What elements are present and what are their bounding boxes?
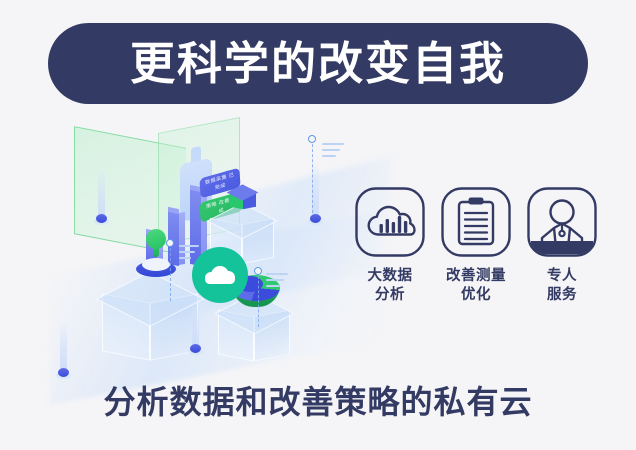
feature-label-measurement-optimization: 改善测量 优化 [446,267,506,305]
glass-pedestal-center [102,271,198,367]
detail-dashes-1 [322,143,344,161]
clipboard-icon [440,186,512,258]
detail-dashes-3 [266,273,288,291]
service-person-icon [526,186,598,258]
feature-label-dedicated-service: 专人 服务 [547,267,577,305]
page-title: 更科学的改变自我 [130,41,506,86]
title-banner: 更科学的改变自我 [48,23,588,104]
mini-cube-icon [230,185,256,213]
dotted-connector-2 [170,243,171,301]
feature-item-big-data-analysis[interactable]: 大数据 分析 [352,186,428,305]
feature-item-measurement-optimization[interactable]: 改善测量 优化 [438,186,514,305]
gauge-stick-4 [58,321,69,373]
tagline: 分析数据和改善策略的私有云 [0,386,636,418]
feature-label-big-data-analysis: 大数据 分析 [368,267,413,305]
cloud-badge-icon [192,247,248,303]
feature-list: 大数据 分析 改善测量 优化 [352,186,600,305]
dotted-connector-3 [258,271,259,327]
gauge-stick-1 [96,167,107,219]
promo-banner-page: 更科学的改变自我 数据采集 已完成 [0,0,636,450]
green-pin-icon [146,229,166,255]
connector-ring-3 [254,267,262,275]
feature-item-dedicated-service[interactable]: 专人 服务 [524,186,600,305]
hero-illustration: 数据采集 已完成 策略 改善达成 [40,125,370,370]
cloud-bar-chart-icon [354,186,426,258]
connector-ring-2 [166,239,174,247]
dotted-connector-1 [312,139,313,213]
connector-ring-1 [308,135,316,143]
gauge-stick-2 [190,301,201,349]
detail-dashes-2 [179,245,199,263]
